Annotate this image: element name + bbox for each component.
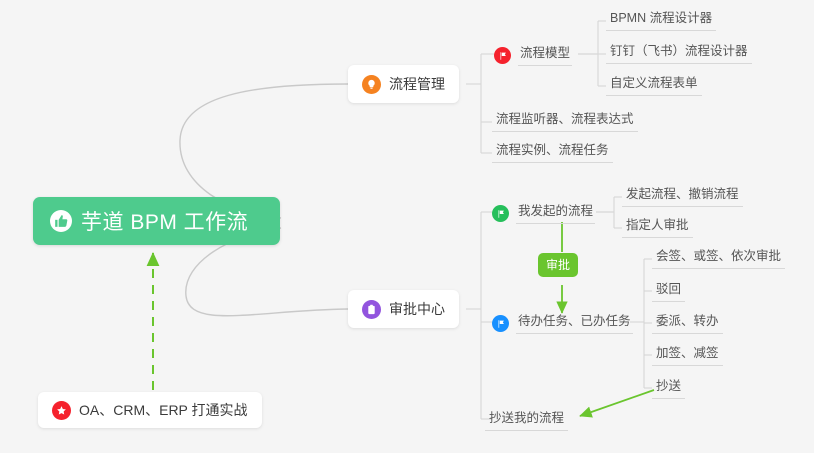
node-reject[interactable]: 驳回 [652,281,685,302]
flag-icon [494,47,511,64]
root-label: 芋道 BPM 工作流 [81,206,248,236]
mindmap-canvas: 芋道 BPM 工作流 流程管理 流程模型 BPMN 流程设计器 钉钉（飞书）流程… [0,0,814,453]
node-countersign[interactable]: 会签、或签、依次审批 [652,248,785,269]
node-todo-done-task[interactable]: 待办任务、已办任务 [492,313,637,338]
node-bpmn-designer[interactable]: BPMN 流程设计器 [606,10,716,31]
branch-node-approval-center[interactable]: 审批中心 [348,290,459,328]
node-start-cancel-process[interactable]: 发起流程、撤销流程 [622,186,743,207]
node-delegate-transfer[interactable]: 委派、转办 [652,313,723,334]
flag-icon [492,205,509,222]
clipboard-icon [362,300,381,319]
callout-card-integration[interactable]: OA、CRM、ERP 打通实战 [38,392,262,428]
node-assignee-approval[interactable]: 指定人审批 [622,217,693,238]
thumbs-up-icon [50,210,72,232]
root-node[interactable]: 芋道 BPM 工作流 [33,197,280,245]
node-cc-to-me-process[interactable]: 抄送我的流程 [485,410,568,431]
branch-label-process-management: 流程管理 [389,74,445,94]
node-my-started-process[interactable]: 我发起的流程 [492,203,599,228]
lightbulb-icon [362,75,381,94]
node-label-my-started-process: 我发起的流程 [516,203,595,224]
node-cc[interactable]: 抄送 [652,378,685,399]
flag-icon [492,315,509,332]
branch-node-process-management[interactable]: 流程管理 [348,65,459,103]
node-custom-form[interactable]: 自定义流程表单 [606,75,702,96]
node-listener-expression[interactable]: 流程监听器、流程表达式 [492,111,638,132]
branch-label-approval-center: 审批中心 [389,299,445,319]
node-label-todo-done-task: 待办任务、已办任务 [516,313,633,334]
node-label-process-model: 流程模型 [518,45,572,66]
arrow-cc-to-ccmyprocess [580,390,654,416]
node-instance-task[interactable]: 流程实例、流程任务 [492,142,613,163]
star-icon [52,401,71,420]
callout-label-integration: OA、CRM、ERP 打通实战 [79,400,248,420]
node-add-remove-sign[interactable]: 加签、减签 [652,345,723,366]
annotation-chip-approve: 审批 [538,253,578,277]
node-dingtalk-designer[interactable]: 钉钉（飞书）流程设计器 [606,43,752,64]
node-process-model[interactable]: 流程模型 [494,45,576,70]
